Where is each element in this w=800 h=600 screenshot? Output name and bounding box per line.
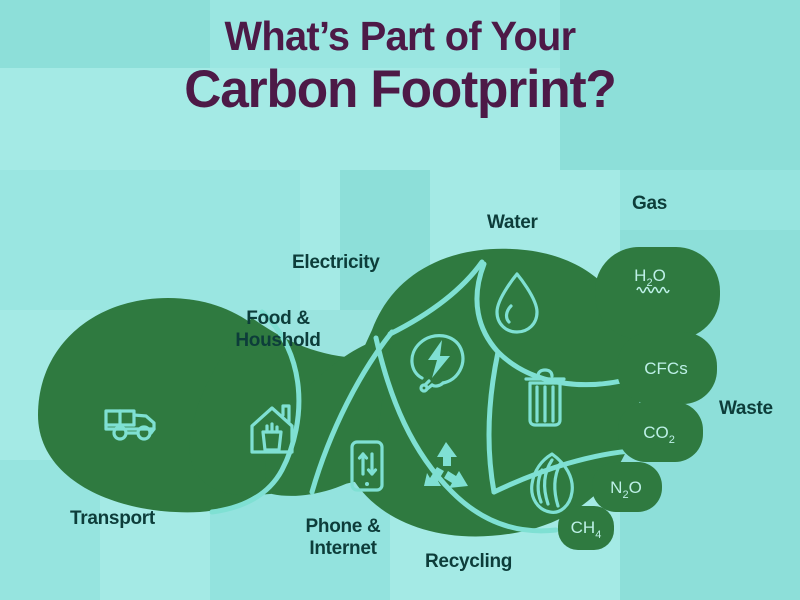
label-water: Water bbox=[487, 212, 538, 234]
label-waste: Waste bbox=[719, 398, 773, 420]
infographic-canvas: What’s Part of Your Carbon Footprint? .s… bbox=[0, 0, 800, 600]
toe-h2o[interactable] bbox=[595, 247, 720, 339]
title-block: What’s Part of Your Carbon Footprint? bbox=[0, 14, 800, 118]
title-line-2: Carbon Footprint? bbox=[12, 62, 788, 118]
toe-n2o[interactable] bbox=[592, 462, 662, 512]
label-gas: Gas bbox=[632, 193, 667, 215]
label-food-household: Food & Houshold bbox=[218, 308, 338, 353]
foot-body bbox=[38, 249, 640, 537]
toe-label-cfcs: CFCs bbox=[644, 359, 687, 378]
label-transport: Transport bbox=[70, 508, 155, 530]
label-electricity: Electricity bbox=[292, 252, 380, 274]
label-recycling: Recycling bbox=[425, 551, 512, 573]
label-phone-internet: Phone & Internet bbox=[288, 516, 398, 561]
title-line-1: What’s Part of Your bbox=[12, 14, 788, 60]
